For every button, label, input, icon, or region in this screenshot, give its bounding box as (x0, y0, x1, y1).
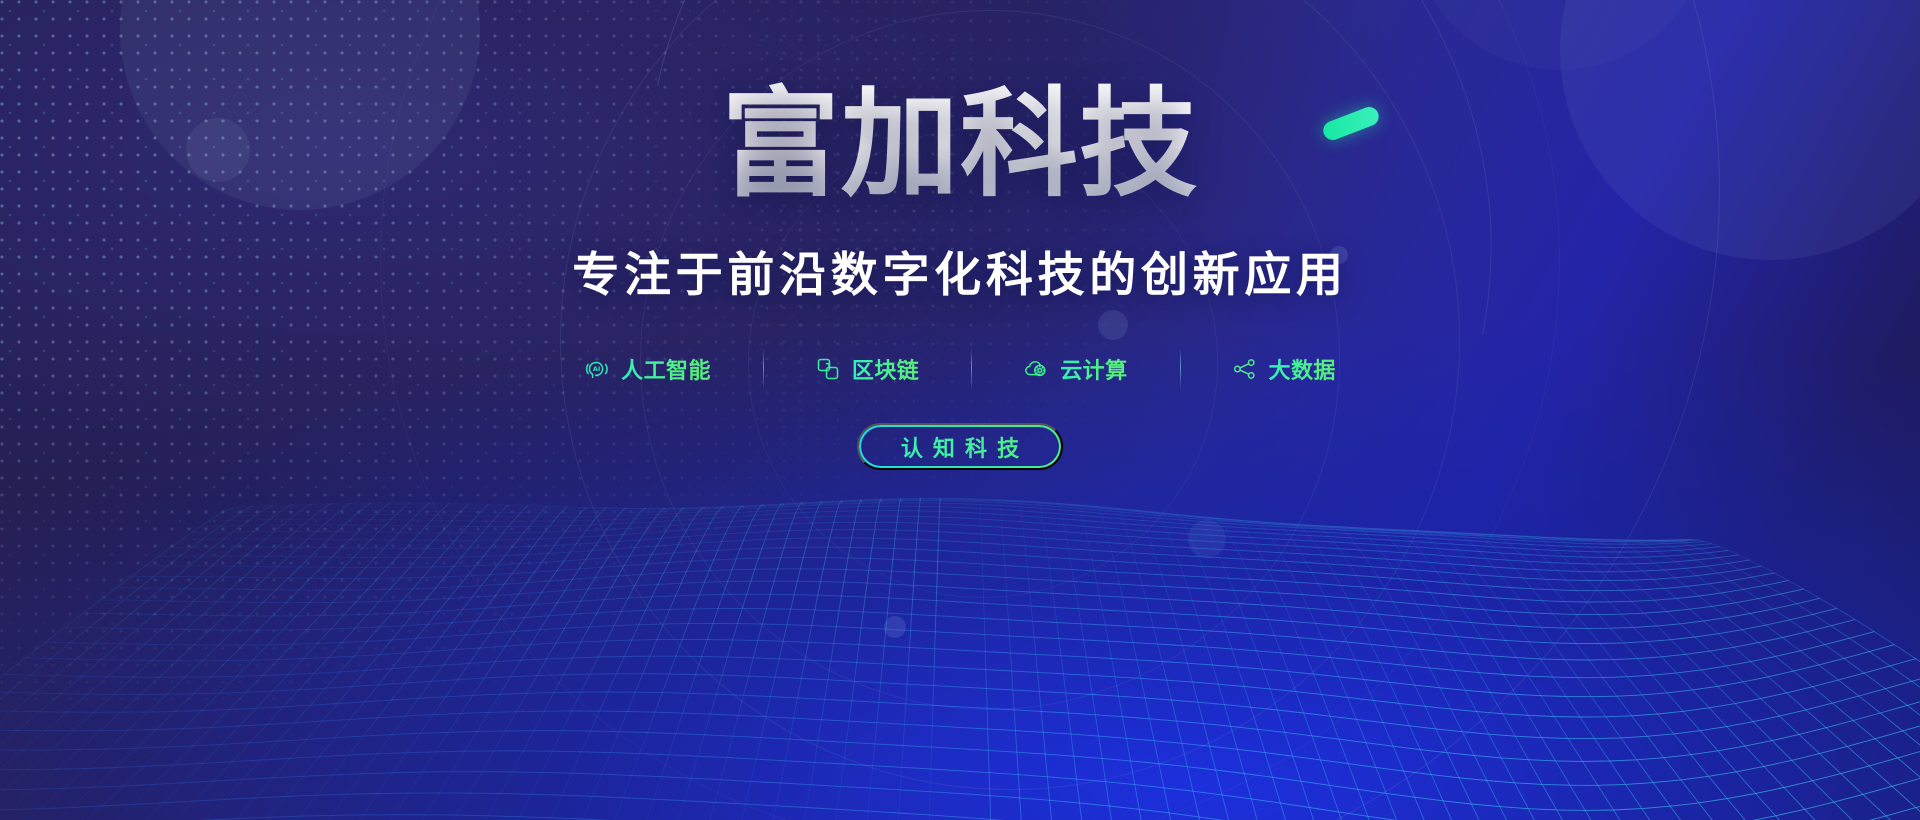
feature-item-blockchain[interactable]: 区块链 (763, 353, 971, 385)
feature-label: 区块链 (852, 353, 919, 385)
cognitive-technology-button[interactable]: 认知科技 (857, 423, 1064, 470)
hero-banner: 富加科技 专注于前沿数字化科技的创新应用 AI 人工智能 (0, 0, 1920, 820)
feature-label: 人工智能 (621, 353, 711, 385)
brand-accent-stroke (1320, 104, 1381, 143)
page-title: 富加科技 (722, 78, 1199, 210)
ai-head-icon: AI (584, 356, 610, 382)
share-nodes-icon (1232, 356, 1258, 382)
blockchain-blocks-icon (815, 356, 841, 382)
feature-label: 云计算 (1060, 353, 1127, 385)
cta-label: 认知科技 (891, 431, 1030, 463)
feature-item-ai[interactable]: AI 人工智能 (532, 353, 763, 385)
cta-container: 认知科技 (857, 423, 1064, 470)
feature-list: AI 人工智能 区块链 (532, 353, 1388, 385)
cloud-gear-icon (1023, 356, 1049, 382)
hero-content: 富加科技 专注于前沿数字化科技的创新应用 AI 人工智能 (0, 0, 1920, 820)
hero-subtitle: 专注于前沿数字化科技的创新应用 (572, 236, 1348, 305)
brand-title-text: 富加科技 (722, 75, 1199, 213)
feature-item-bigdata[interactable]: 大数据 (1180, 353, 1388, 385)
feature-label: 大数据 (1269, 353, 1336, 385)
feature-item-cloud[interactable]: 云计算 (971, 353, 1179, 385)
svg-text:AI: AI (593, 365, 600, 373)
